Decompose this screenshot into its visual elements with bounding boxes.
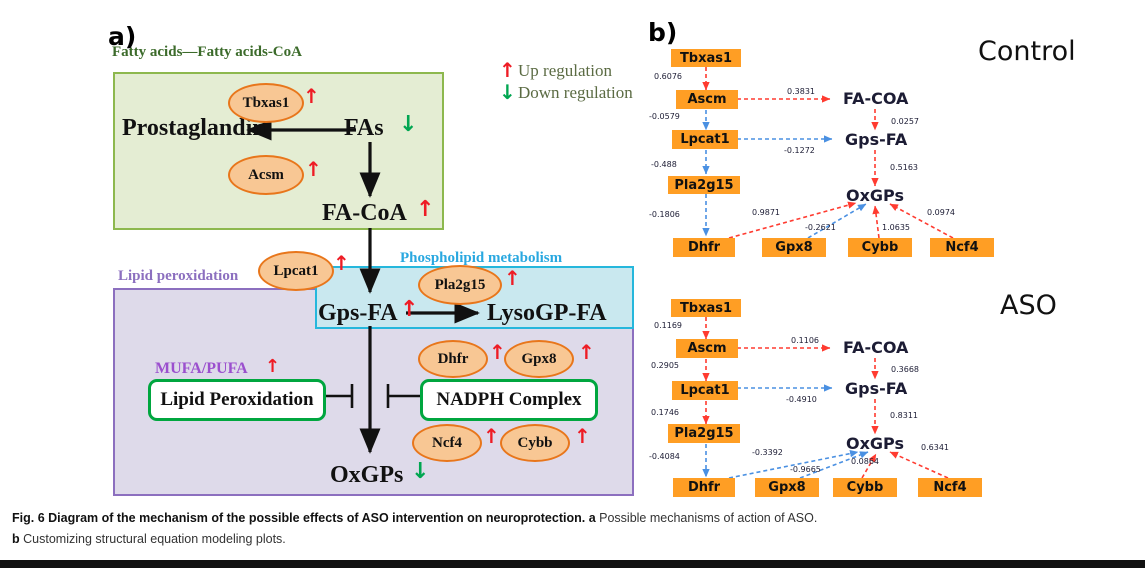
coef-control-dhfr-oxgps: 0.9871	[752, 208, 780, 217]
legend-label-up-regulation: Up regulation	[518, 61, 612, 81]
label-mufa-pufa: MUFA/PUFA	[155, 360, 248, 378]
caption-marker-a: a	[589, 511, 596, 525]
coef-aso-ncf4-oxgps: 0.6341	[921, 443, 949, 452]
coef-aso-facoa-gpsfa: 0.3668	[891, 365, 919, 374]
gene-box-aso-tbxas1[interactable]: Tbxas1	[671, 299, 741, 317]
enzyme-label-lpcat1: Lpcat1	[274, 263, 319, 280]
coef-control-cybb-oxgps: 1.0635	[882, 223, 910, 232]
gene-label: Tbxas1	[680, 51, 732, 66]
box-lipid-peroxidation-label: Lipid Peroxidation	[160, 389, 313, 411]
enzyme-ellipse-dhfr: Dhfr	[418, 340, 488, 378]
up-arrow-icon-tbxas1: ↑	[303, 86, 320, 106]
model-title-control: Control	[978, 36, 1076, 67]
enzyme-ellipse-acsm: Acsm	[228, 155, 304, 195]
legend-down-arrow-icon: ↓	[499, 82, 516, 102]
coef-control-facoa-gpsfa: 0.0257	[891, 117, 919, 126]
latent-control-gps-fa: Gps-FA	[845, 130, 907, 149]
coef-control-gpsfa-oxgps: 0.5163	[890, 163, 918, 172]
coef-aso-tbxas1-ascm: 0.1169	[654, 321, 682, 330]
up-arrow-icon-ncf4: ↑	[483, 426, 500, 446]
up-arrow-icon-gpx8: ↑	[578, 342, 595, 362]
node-fas: FAs	[344, 115, 384, 142]
up-arrow-icon-lpcat1: ↑	[333, 253, 350, 273]
enzyme-label-ncf4: Ncf4	[432, 435, 462, 452]
up-arrow-icon-fa-coa: ↑	[416, 199, 434, 221]
legend-up-arrow-icon: ↑	[499, 60, 516, 80]
coef-aso-lpcat1-gpsfa: -0.4910	[786, 395, 817, 404]
enzyme-ellipse-lpcat1: Lpcat1	[258, 251, 334, 291]
figure-root: a) Fatty acids—Fatty acids-CoA Lipid per…	[0, 0, 1145, 568]
enzyme-ellipse-ncf4: Ncf4	[412, 424, 482, 462]
gene-label: Lpcat1	[680, 383, 729, 398]
gene-box-control-gpx8[interactable]: Gpx8	[762, 238, 826, 257]
gene-box-aso-ncf4[interactable]: Ncf4	[918, 478, 982, 497]
gene-label: Gpx8	[768, 480, 805, 495]
enzyme-label-tbxas1: Tbxas1	[243, 95, 290, 112]
gene-label: Gpx8	[775, 240, 812, 255]
coef-control-ascm-lpcat1: -0.0579	[649, 112, 680, 121]
gene-label: Dhfr	[688, 480, 720, 495]
enzyme-ellipse-tbxas1: Tbxas1	[228, 83, 304, 123]
model-title-aso: ASO	[1000, 290, 1057, 321]
coef-control-ncf4-oxgps: 0.0974	[927, 208, 955, 217]
gene-box-aso-ascm[interactable]: Ascm	[676, 339, 738, 358]
gene-box-aso-pla2g15[interactable]: Pla2g15	[668, 424, 740, 443]
enzyme-ellipse-cybb: Cybb	[500, 424, 570, 462]
coef-aso-dhfr-oxgps: -0.3392	[752, 448, 783, 457]
box-lipid-peroxidation: Lipid Peroxidation	[148, 379, 326, 421]
compartment-label-lipid-peroxidation: Lipid peroxidation	[118, 268, 238, 285]
latent-aso-fa-coa: FA-COA	[843, 338, 908, 357]
gene-box-aso-dhfr[interactable]: Dhfr	[673, 478, 735, 497]
enzyme-label-cybb: Cybb	[517, 435, 552, 452]
gene-label: Pla2g15	[674, 178, 733, 193]
gene-label: Ascm	[687, 92, 726, 107]
gene-box-aso-cybb[interactable]: Cybb	[833, 478, 897, 497]
enzyme-label-pla2g15: Pla2g15	[435, 277, 486, 294]
coef-control-ascm-facoa: 0.3831	[787, 87, 815, 96]
latent-aso-gps-fa: Gps-FA	[845, 379, 907, 398]
gene-box-control-lpcat1[interactable]: Lpcat1	[672, 130, 738, 149]
gene-label: Cybb	[847, 480, 884, 495]
compartment-label-phospholipid: Phospholipid metabolism	[400, 250, 562, 267]
coef-control-pla2g15-dhfr: -0.1806	[649, 210, 680, 219]
gene-label: Ncf4	[945, 240, 978, 255]
coef-control-lpcat1-pla2g15: -0.488	[651, 160, 677, 169]
caption-text-a: Possible mechanisms of action of ASO.	[599, 511, 817, 525]
latent-aso-oxgps: OxGPs	[846, 434, 904, 453]
gene-label: Cybb	[862, 240, 899, 255]
gene-label: Ascm	[687, 341, 726, 356]
node-gps-fa: Gps-FA	[318, 300, 398, 327]
latent-control-oxgps: OxGPs	[846, 186, 904, 205]
caption-marker-b: b	[12, 532, 20, 546]
coef-aso-lpcat1-pla2g15: 0.1746	[651, 408, 679, 417]
gene-box-control-pla2g15[interactable]: Pla2g15	[668, 176, 740, 194]
enzyme-label-dhfr: Dhfr	[438, 351, 469, 368]
figure-caption: Fig. 6 Diagram of the mechanism of the p…	[12, 508, 1132, 549]
enzyme-ellipse-gpx8: Gpx8	[504, 340, 574, 378]
coef-aso-cybb-oxgps: 0.0864	[851, 457, 879, 466]
gene-box-control-ascm[interactable]: Ascm	[676, 90, 738, 109]
gene-box-control-dhfr[interactable]: Dhfr	[673, 238, 735, 257]
caption-bold-text: Fig. 6 Diagram of the mechanism of the p…	[12, 511, 585, 525]
node-fa-coa: FA-CoA	[322, 200, 407, 227]
coef-aso-ascm-facoa: 0.1106	[791, 336, 819, 345]
gene-box-control-ncf4[interactable]: Ncf4	[930, 238, 994, 257]
down-arrow-icon-oxgps: ↓	[411, 461, 429, 483]
gene-label: Tbxas1	[680, 301, 732, 316]
node-oxgps: OxGPs	[330, 462, 403, 489]
up-arrow-icon-acsm: ↑	[305, 159, 322, 179]
box-nadph-complex: NADPH Complex	[420, 379, 598, 421]
latent-control-fa-coa: FA-COA	[843, 89, 908, 108]
gene-box-aso-gpx8[interactable]: Gpx8	[755, 478, 819, 497]
gene-label: Pla2g15	[674, 426, 733, 441]
up-arrow-icon-cybb: ↑	[574, 426, 591, 446]
gene-label: Ncf4	[933, 480, 966, 495]
compartment-label-fatty-acids: Fatty acids—Fatty acids-CoA	[112, 44, 302, 61]
coef-aso-gpsfa-oxgps: 0.8311	[890, 411, 918, 420]
coef-control-tbxas1-ascm: 0.6076	[654, 72, 682, 81]
gene-box-control-cybb[interactable]: Cybb	[848, 238, 912, 257]
coef-aso-gpx8-oxgps: -0.9665	[790, 465, 821, 474]
coef-aso-pla2g15-dhfr: -0.4084	[649, 452, 680, 461]
legend-label-down-regulation: Down regulation	[518, 83, 633, 103]
box-nadph-complex-label: NADPH Complex	[436, 389, 581, 411]
caption-text-b: Customizing structural equation modeling…	[23, 532, 286, 546]
enzyme-label-acsm: Acsm	[248, 167, 284, 184]
gene-label: Dhfr	[688, 240, 720, 255]
coef-control-gpx8-oxgps: -0.2621	[805, 223, 836, 232]
up-arrow-icon-mufa-pufa: ↑	[265, 358, 280, 376]
enzyme-label-gpx8: Gpx8	[521, 351, 556, 368]
coef-control-lpcat1-gpsfa: -0.1272	[784, 146, 815, 155]
bottom-rule	[0, 560, 1145, 568]
node-lysogp-fa: LysoGP-FA	[487, 300, 607, 327]
enzyme-ellipse-pla2g15: Pla2g15	[418, 265, 502, 305]
gene-box-control-tbxas1[interactable]: Tbxas1	[671, 49, 741, 67]
down-arrow-icon-fas: ↓	[399, 114, 417, 136]
up-arrow-icon-gps-fa: ↑	[400, 299, 418, 321]
up-arrow-icon-pla2g15: ↑	[504, 268, 521, 288]
panel-b-letter: b)	[648, 18, 677, 47]
gene-box-aso-lpcat1[interactable]: Lpcat1	[672, 381, 738, 400]
gene-label: Lpcat1	[680, 132, 729, 147]
coef-aso-ascm-lpcat1: 0.2905	[651, 361, 679, 370]
